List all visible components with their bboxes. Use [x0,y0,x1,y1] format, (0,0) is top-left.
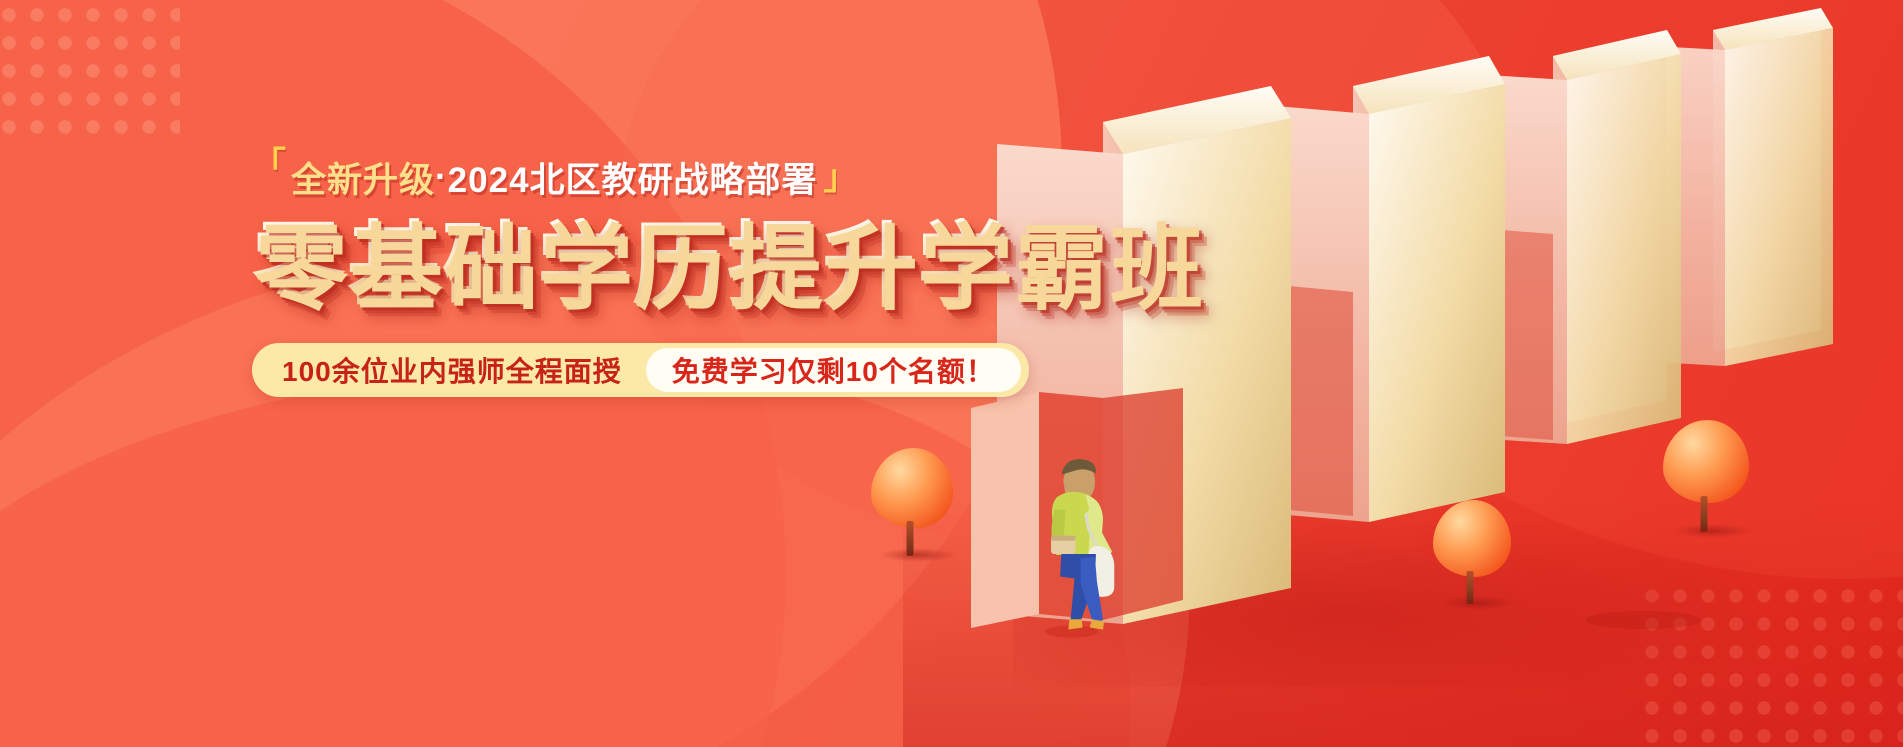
dot-pattern-top-left [0,6,180,136]
tree-crown [871,448,953,528]
banner-copy: 「 全新升级 · 2024北区教研战略部署 」 零基础学历提升学霸班 100余位… [252,150,1012,397]
tree-mid [1433,500,1511,604]
badge-left-text: 100余位业内强师全程面授 [282,350,646,390]
tree-right [1663,420,1749,532]
tree-shadow [1672,524,1754,538]
tree-shadow [879,548,957,562]
bracket-right-icon: 」 [824,153,859,204]
badge-right-text: 免费学习仅剩10个名额！ [646,348,1021,392]
subtitle-highlight: 全新升级 [291,152,435,203]
subtitle-rest: 2024北区教研战略部署 [448,152,818,203]
bracket-left-icon: 「 [252,150,287,181]
banner-subtitle: 「 全新升级 · 2024北区教研战略部署 」 [252,150,1012,204]
promo-banner: 「 全新升级 · 2024北区教研战略部署 」 零基础学历提升学霸班 100余位… [0,0,1903,747]
subtitle-separator: · [435,157,448,197]
tree-crown [1663,420,1749,503]
illustration-book-archways [953,0,1903,747]
banner-title: 零基础学历提升学霸班 [252,218,1012,315]
tree-shadow [1441,596,1515,610]
tree-left [871,448,953,556]
tree-crown [1433,500,1511,577]
banner-badge[interactable]: 100余位业内强师全程面授 免费学习仅剩10个名额！ [252,343,1029,397]
